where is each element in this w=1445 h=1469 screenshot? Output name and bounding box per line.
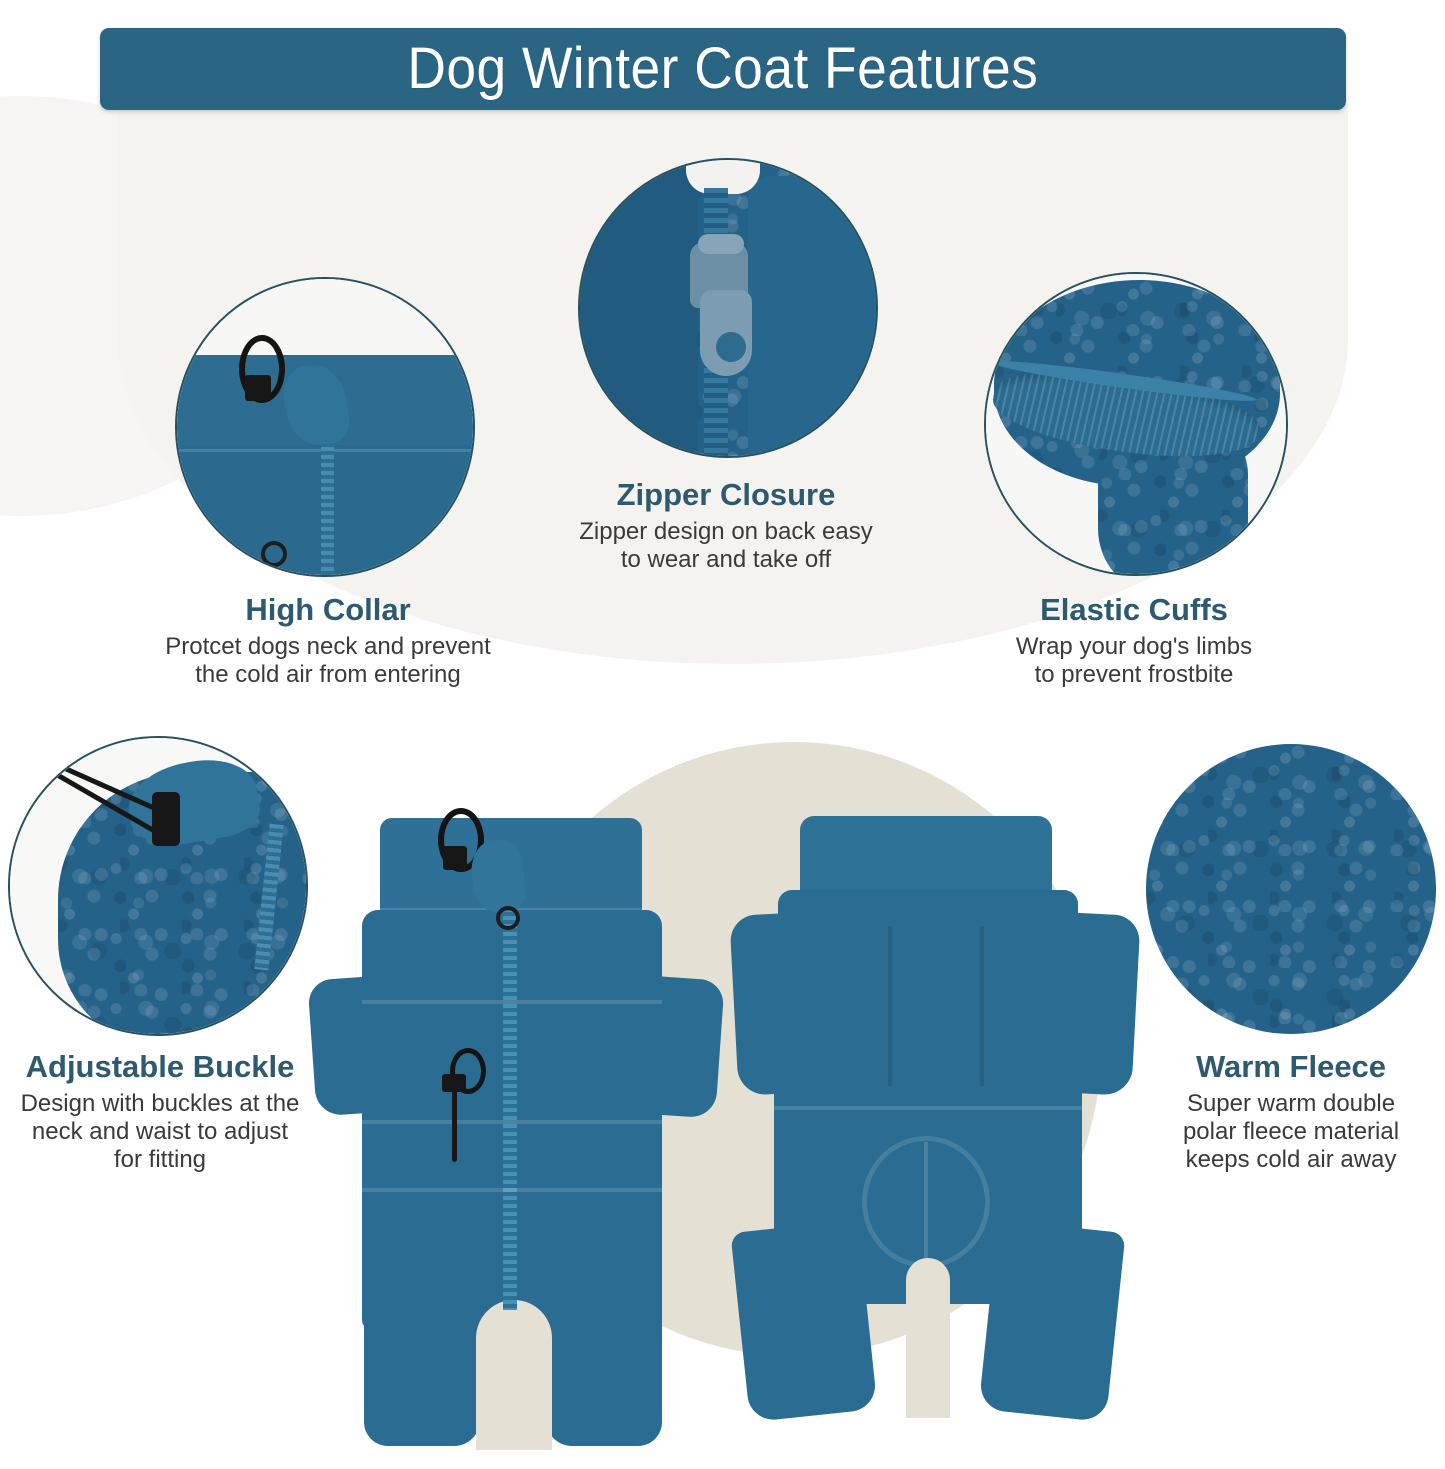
collar-cord-toggle	[245, 375, 271, 401]
front-yoke-seam	[362, 1000, 662, 1004]
zipper-left-flap	[578, 158, 698, 458]
front-collar-toggle	[443, 846, 467, 870]
page-title: Dog Winter Coat Features	[408, 40, 1039, 98]
warm-fleece-texture	[1146, 744, 1436, 1034]
elastic-cuffs-title: Elastic Cuffs	[884, 593, 1384, 627]
zipper-closure-title: Zipper Closure	[476, 478, 976, 512]
front-left-sleeve	[307, 976, 392, 1117]
zipper-closure-caption: Zipper Closure Zipper design on back eas…	[476, 478, 976, 574]
front-waist-cord	[452, 1088, 457, 1162]
dog-coat-front-view	[300, 800, 730, 1460]
zipper-closure-image	[578, 158, 878, 458]
front-snap-button	[496, 906, 520, 930]
warm-fleece-image	[1146, 744, 1436, 1034]
front-right-sleeve	[635, 975, 724, 1118]
zipper-pull-hole	[716, 332, 746, 362]
zipper-right-flap	[748, 176, 878, 458]
warm-fleece-caption: Warm Fleece Super warm double polar flee…	[1138, 1050, 1444, 1174]
elastic-cuffs-caption: Elastic Cuffs Wrap your dog's limbs to p…	[884, 593, 1384, 689]
back-right-panel-seam	[980, 926, 984, 1086]
back-left-panel-seam	[888, 926, 892, 1086]
elastic-cuffs-description: Wrap your dog's limbs to prevent frostbi…	[884, 633, 1384, 689]
adjustable-buckle-caption: Adjustable Buckle Design with buckles at…	[5, 1050, 315, 1174]
back-waist-seam	[774, 1106, 1082, 1110]
high-collar-image	[175, 277, 475, 577]
front-crotch-gap	[476, 1300, 552, 1450]
warm-fleece-description: Super warm double polar fleece material …	[1138, 1090, 1444, 1173]
front-right-leg	[546, 1270, 662, 1446]
back-collar	[800, 816, 1052, 896]
back-shoulder-panel	[778, 890, 1078, 1100]
front-waist-seam	[362, 1120, 662, 1124]
zipper-closure-description: Zipper design on back easy to wear and t…	[476, 518, 976, 574]
front-left-leg	[364, 1270, 480, 1446]
back-opening-center-seam	[924, 1142, 928, 1268]
title-banner: Dog Winter Coat Features	[100, 28, 1346, 110]
back-left-sleeve	[729, 912, 814, 1096]
warm-fleece-title: Warm Fleece	[1138, 1050, 1444, 1084]
dog-coat-back-view	[730, 806, 1140, 1456]
zipper-pull-top-bar	[698, 234, 744, 254]
high-collar-description: Protcet dogs neck and prevent the cold a…	[78, 633, 578, 689]
infographic-canvas: Dog Winter Coat Features Zipper Closure …	[0, 0, 1445, 1469]
high-collar-caption: High Collar Protcet dogs neck and preven…	[78, 593, 578, 689]
elastic-cuffs-image	[984, 272, 1288, 576]
adjustable-buckle-title: Adjustable Buckle	[5, 1050, 315, 1084]
back-right-leg	[978, 1220, 1125, 1422]
buckle-cord-lock	[152, 792, 180, 846]
adjustable-buckle-image	[8, 736, 308, 1036]
back-right-sleeve	[1053, 912, 1140, 1096]
high-collar-title: High Collar	[78, 593, 578, 627]
back-left-leg	[730, 1220, 877, 1422]
front-lower-seam	[362, 1188, 662, 1192]
adjustable-buckle-description: Design with buckles at the neck and wais…	[5, 1090, 315, 1173]
collar-snap-button	[261, 541, 287, 567]
back-crotch-gap	[906, 1258, 950, 1418]
